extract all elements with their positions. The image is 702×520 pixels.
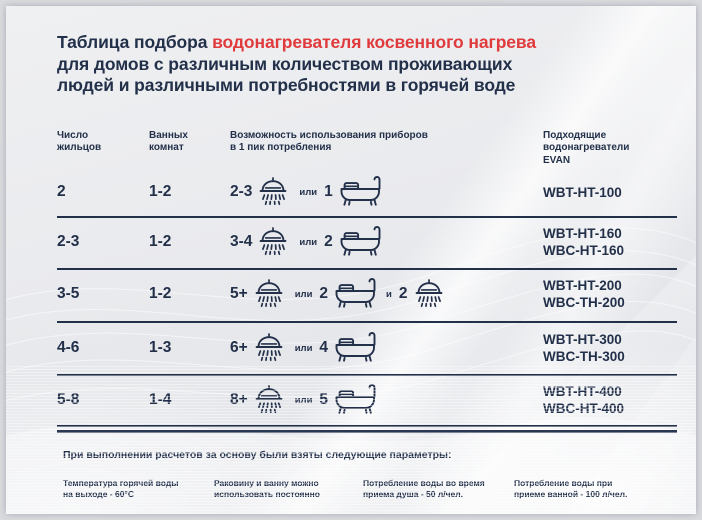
row-divider (57, 216, 677, 218)
usage-quantity: 6+ (230, 339, 248, 357)
row-divider (57, 268, 677, 270)
table-row: 3-51-25+ или2 и2 WBT-HT- (6, 271, 696, 317)
table-row: 21-22-3 или1 WBT-HT-100 (6, 169, 696, 215)
cell-people-count: 2 (57, 183, 66, 201)
usage-conjunction: или (299, 187, 317, 198)
shower-icon-wrapper (252, 226, 290, 258)
footer-note-bath-usage: Потребление воды при приеме ванной - 100… (514, 478, 674, 500)
bathtub-icon-wrapper (328, 332, 377, 364)
cell-bathroom-count: 1-2 (149, 285, 171, 303)
title-line2: для домов с различным количеством прожив… (57, 54, 512, 74)
usage-quantity: 4 (319, 339, 328, 357)
bathtub-icon-wrapper (333, 226, 382, 258)
usage-conjunction: или (299, 237, 317, 248)
model-name: WBC-TH-300 (543, 348, 625, 365)
column-header-people: Число жильцов (57, 130, 137, 155)
shower-icon (252, 384, 286, 416)
model-name: WBC-HT-160 (543, 242, 624, 259)
usage-quantity: 2 (324, 233, 333, 251)
footer-note-shower-usage: Потребление воды во время приема душа - … (363, 478, 515, 500)
title-highlight: водонагревателя косвенного нагрева (212, 32, 536, 52)
shower-icon-wrapper (248, 384, 286, 416)
usage-conjunction: или (295, 289, 313, 300)
cell-bathroom-count: 1-3 (149, 339, 171, 357)
footer-note-fixtures: Раковину и ванну можно использовать пост… (214, 478, 364, 500)
row-divider (57, 321, 677, 323)
row-divider (57, 425, 677, 427)
cell-usage: 2-3 или1 (230, 169, 382, 215)
cell-usage: 6+ или4 (230, 325, 377, 371)
shower-icon-wrapper (252, 176, 290, 208)
bathtub-icon-wrapper (328, 278, 377, 310)
usage-quantity: 1 (324, 183, 333, 201)
cell-people-count: 5-8 (57, 391, 79, 409)
shower-icon-wrapper (248, 278, 286, 310)
usage-quantity: 3-4 (230, 233, 252, 251)
cell-people-count: 4-6 (57, 339, 79, 357)
model-name: WBT-HT-160 (543, 225, 624, 242)
usage-quantity: 2 (319, 285, 328, 303)
title-prefix: Таблица подбора (57, 32, 212, 52)
usage-conjunction: или (295, 343, 313, 354)
model-name: WBT-HT-100 (543, 184, 622, 201)
footer-lead-text: При выполнении расчетов за основу были в… (63, 449, 451, 461)
cell-model-list: WBT-HT-400WBC-HT-400 (543, 383, 624, 417)
bathtub-icon-wrapper (333, 176, 382, 208)
usage-conjunction: или (295, 395, 313, 406)
cell-people-count: 3-5 (57, 285, 79, 303)
model-name: WBC-HT-400 (543, 400, 624, 417)
table-row: 2-31-23-4 или2 WBT-HT-160WBC-HT-160 (6, 219, 696, 265)
cell-model-list: WBT-HT-300WBC-TH-300 (543, 331, 625, 365)
shower-icon-wrapper (408, 278, 446, 310)
bathtub-icon (333, 332, 377, 364)
cell-model-list: WBT-HT-100 (543, 184, 622, 201)
column-header-models: Подходящие водонагреватели EVAN (543, 130, 688, 167)
usage-quantity: 5 (319, 391, 328, 409)
model-name: WBC-TH-200 (543, 294, 625, 311)
bathtub-icon-wrapper (328, 384, 377, 416)
usage-conjunction: и (386, 289, 392, 300)
shower-icon (256, 226, 290, 258)
usage-quantity: 2-3 (230, 183, 252, 201)
cell-people-count: 2-3 (57, 233, 79, 251)
shower-icon-wrapper (248, 332, 286, 364)
column-header-bathrooms: Ванных комнат (149, 130, 224, 155)
bathtub-icon (333, 278, 377, 310)
model-name: WBT-HT-200 (543, 277, 625, 294)
infographic-card: Таблица подбора водонагревателя косвенно… (6, 6, 696, 514)
footer-note-temperature: Температура горячей воды на выходе - 60°… (63, 478, 213, 500)
cell-usage: 8+ или5 (230, 377, 377, 423)
cell-bathroom-count: 1-4 (149, 391, 171, 409)
model-name: WBT-HT-400 (543, 383, 624, 400)
cell-usage: 3-4 или2 (230, 219, 382, 265)
usage-quantity: 8+ (230, 391, 248, 409)
table-row: 4-61-36+ или4 WBT-HT-300WBC-TH-300 (6, 325, 696, 371)
cell-usage: 5+ или2 и2 (230, 271, 446, 317)
bathtub-icon (338, 226, 382, 258)
row-divider (57, 374, 677, 376)
title-line3: людей и различными потребностями в горяч… (57, 75, 515, 95)
cell-model-list: WBT-HT-160WBC-HT-160 (543, 225, 624, 259)
usage-quantity: 5+ (230, 285, 248, 303)
bathtub-icon (338, 176, 382, 208)
model-name: WBT-HT-300 (543, 331, 625, 348)
cell-bathroom-count: 1-2 (149, 183, 171, 201)
bathtub-icon (333, 384, 377, 416)
shower-icon (256, 176, 290, 208)
shower-icon (252, 332, 286, 364)
shower-icon (412, 278, 446, 310)
cell-model-list: WBT-HT-200WBC-TH-200 (543, 277, 625, 311)
footer-divider (57, 430, 677, 433)
column-header-usage: Возможность использования приборов в 1 п… (230, 130, 530, 155)
usage-quantity: 2 (399, 285, 408, 303)
shower-icon (252, 278, 286, 310)
page-title: Таблица подбора водонагревателя косвенно… (57, 32, 677, 97)
cell-bathroom-count: 1-2 (149, 233, 171, 251)
table-row: 5-81-48+ или5 WBT-HT-400WBC-HT-400 (6, 377, 696, 423)
